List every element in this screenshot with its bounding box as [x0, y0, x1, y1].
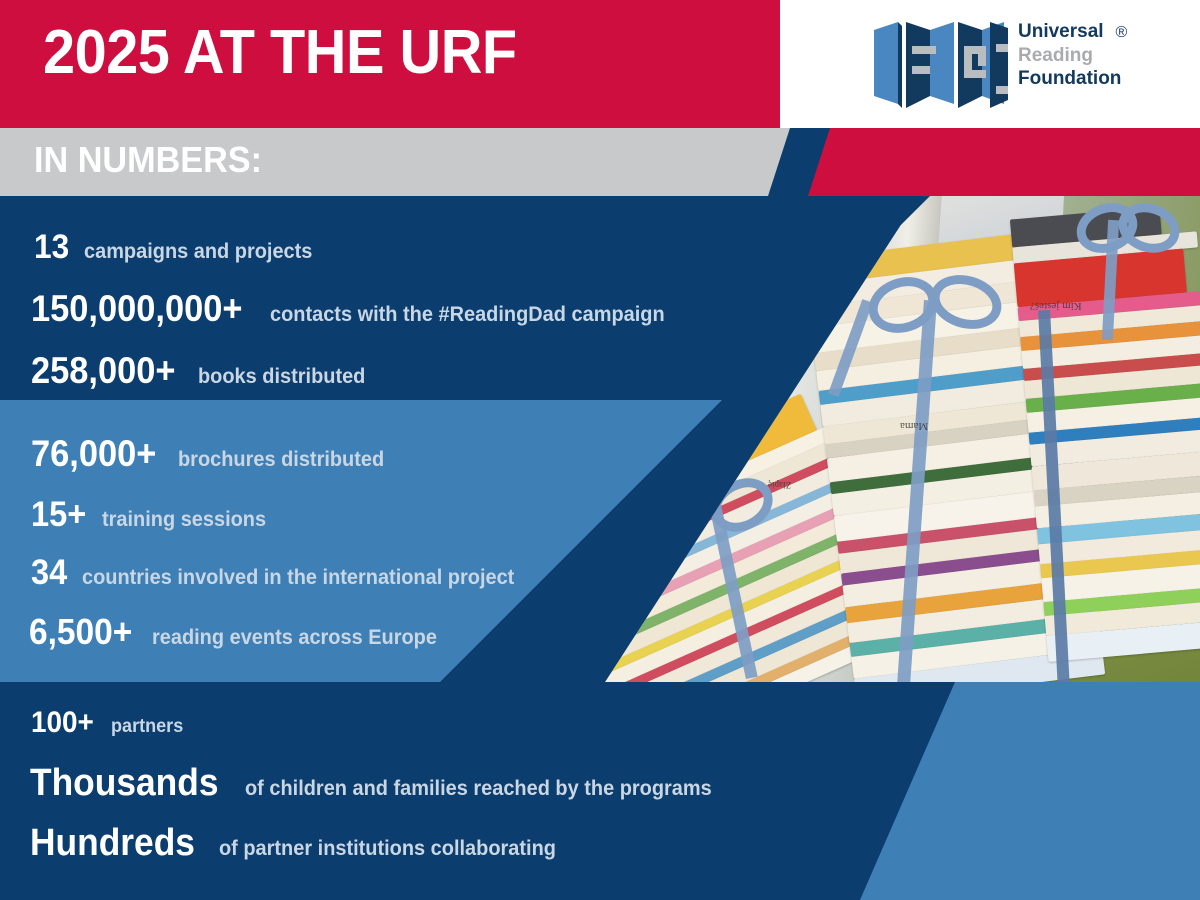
stat-row: 34 countries involved in the internation…	[31, 553, 537, 593]
logo-wordmark: Universal® Reading Foundation	[1018, 20, 1127, 90]
open-book-logo-icon	[872, 16, 1008, 110]
logo-text-universal: Universal	[1018, 21, 1104, 42]
stat-label: brochures distributed	[178, 448, 384, 472]
stat-number: 6,500+	[29, 611, 132, 653]
stat-label: campaigns and projects	[84, 240, 312, 264]
stat-label: contacts with the #ReadingDad campaign	[270, 303, 665, 327]
stat-number: 76,000+	[31, 433, 156, 475]
stat-row: 100+ partners	[31, 706, 187, 740]
page-subtitle: IN NUMBERS:	[34, 142, 262, 178]
registered-trademark-icon: ®	[1116, 24, 1128, 41]
infographic-poster: Złapię Kim jesteś? Mama 2025 AT THE URF …	[0, 0, 1200, 900]
stat-row: 15+ training sessions	[31, 495, 275, 535]
stat-label: of children and families reached by the …	[245, 777, 712, 801]
stat-number: 258,000+	[31, 350, 175, 392]
page-title: 2025 AT THE URF	[43, 22, 517, 84]
stat-number: 150,000,000+	[31, 288, 242, 330]
stat-label: countries involved in the international …	[82, 566, 514, 590]
photo-book-title-3: Mama	[900, 420, 928, 432]
stat-number: 34	[31, 553, 67, 593]
logo-line-reading: Reading	[1018, 44, 1127, 67]
photo-book-title-2: Kim jesteś?	[1030, 300, 1082, 312]
stat-row: 76,000+ brochures distributed	[31, 433, 395, 475]
logo-line-universal: Universal®	[1018, 20, 1127, 44]
logo-line-foundation: Foundation	[1018, 67, 1127, 90]
stat-label: books distributed	[198, 365, 365, 389]
stat-row: 13 campaigns and projects	[34, 228, 324, 267]
stat-row: 6,500+ reading events across Europe	[29, 611, 452, 653]
stat-number: Hundreds	[30, 822, 195, 865]
stat-number: 13	[34, 228, 69, 267]
stat-row: 258,000+ books distributed	[31, 350, 375, 392]
stat-row: Thousands of children and families reach…	[30, 762, 736, 805]
stat-number: 100+	[31, 706, 94, 740]
stat-row: Hundreds of partner institutions collabo…	[30, 822, 574, 865]
stat-number: Thousands	[30, 762, 218, 805]
stat-row: 150,000,000+ contacts with the #ReadingD…	[31, 288, 686, 330]
photo-book-title-1: Złapię	[768, 480, 791, 490]
stat-label: of partner institutions collaborating	[219, 837, 556, 861]
stat-label: partners	[111, 716, 183, 738]
stat-label: reading events across Europe	[152, 626, 437, 650]
logo[interactable]: Universal® Reading Foundation	[872, 14, 1172, 114]
stat-label: training sessions	[102, 508, 266, 532]
stat-number: 15+	[31, 495, 86, 535]
